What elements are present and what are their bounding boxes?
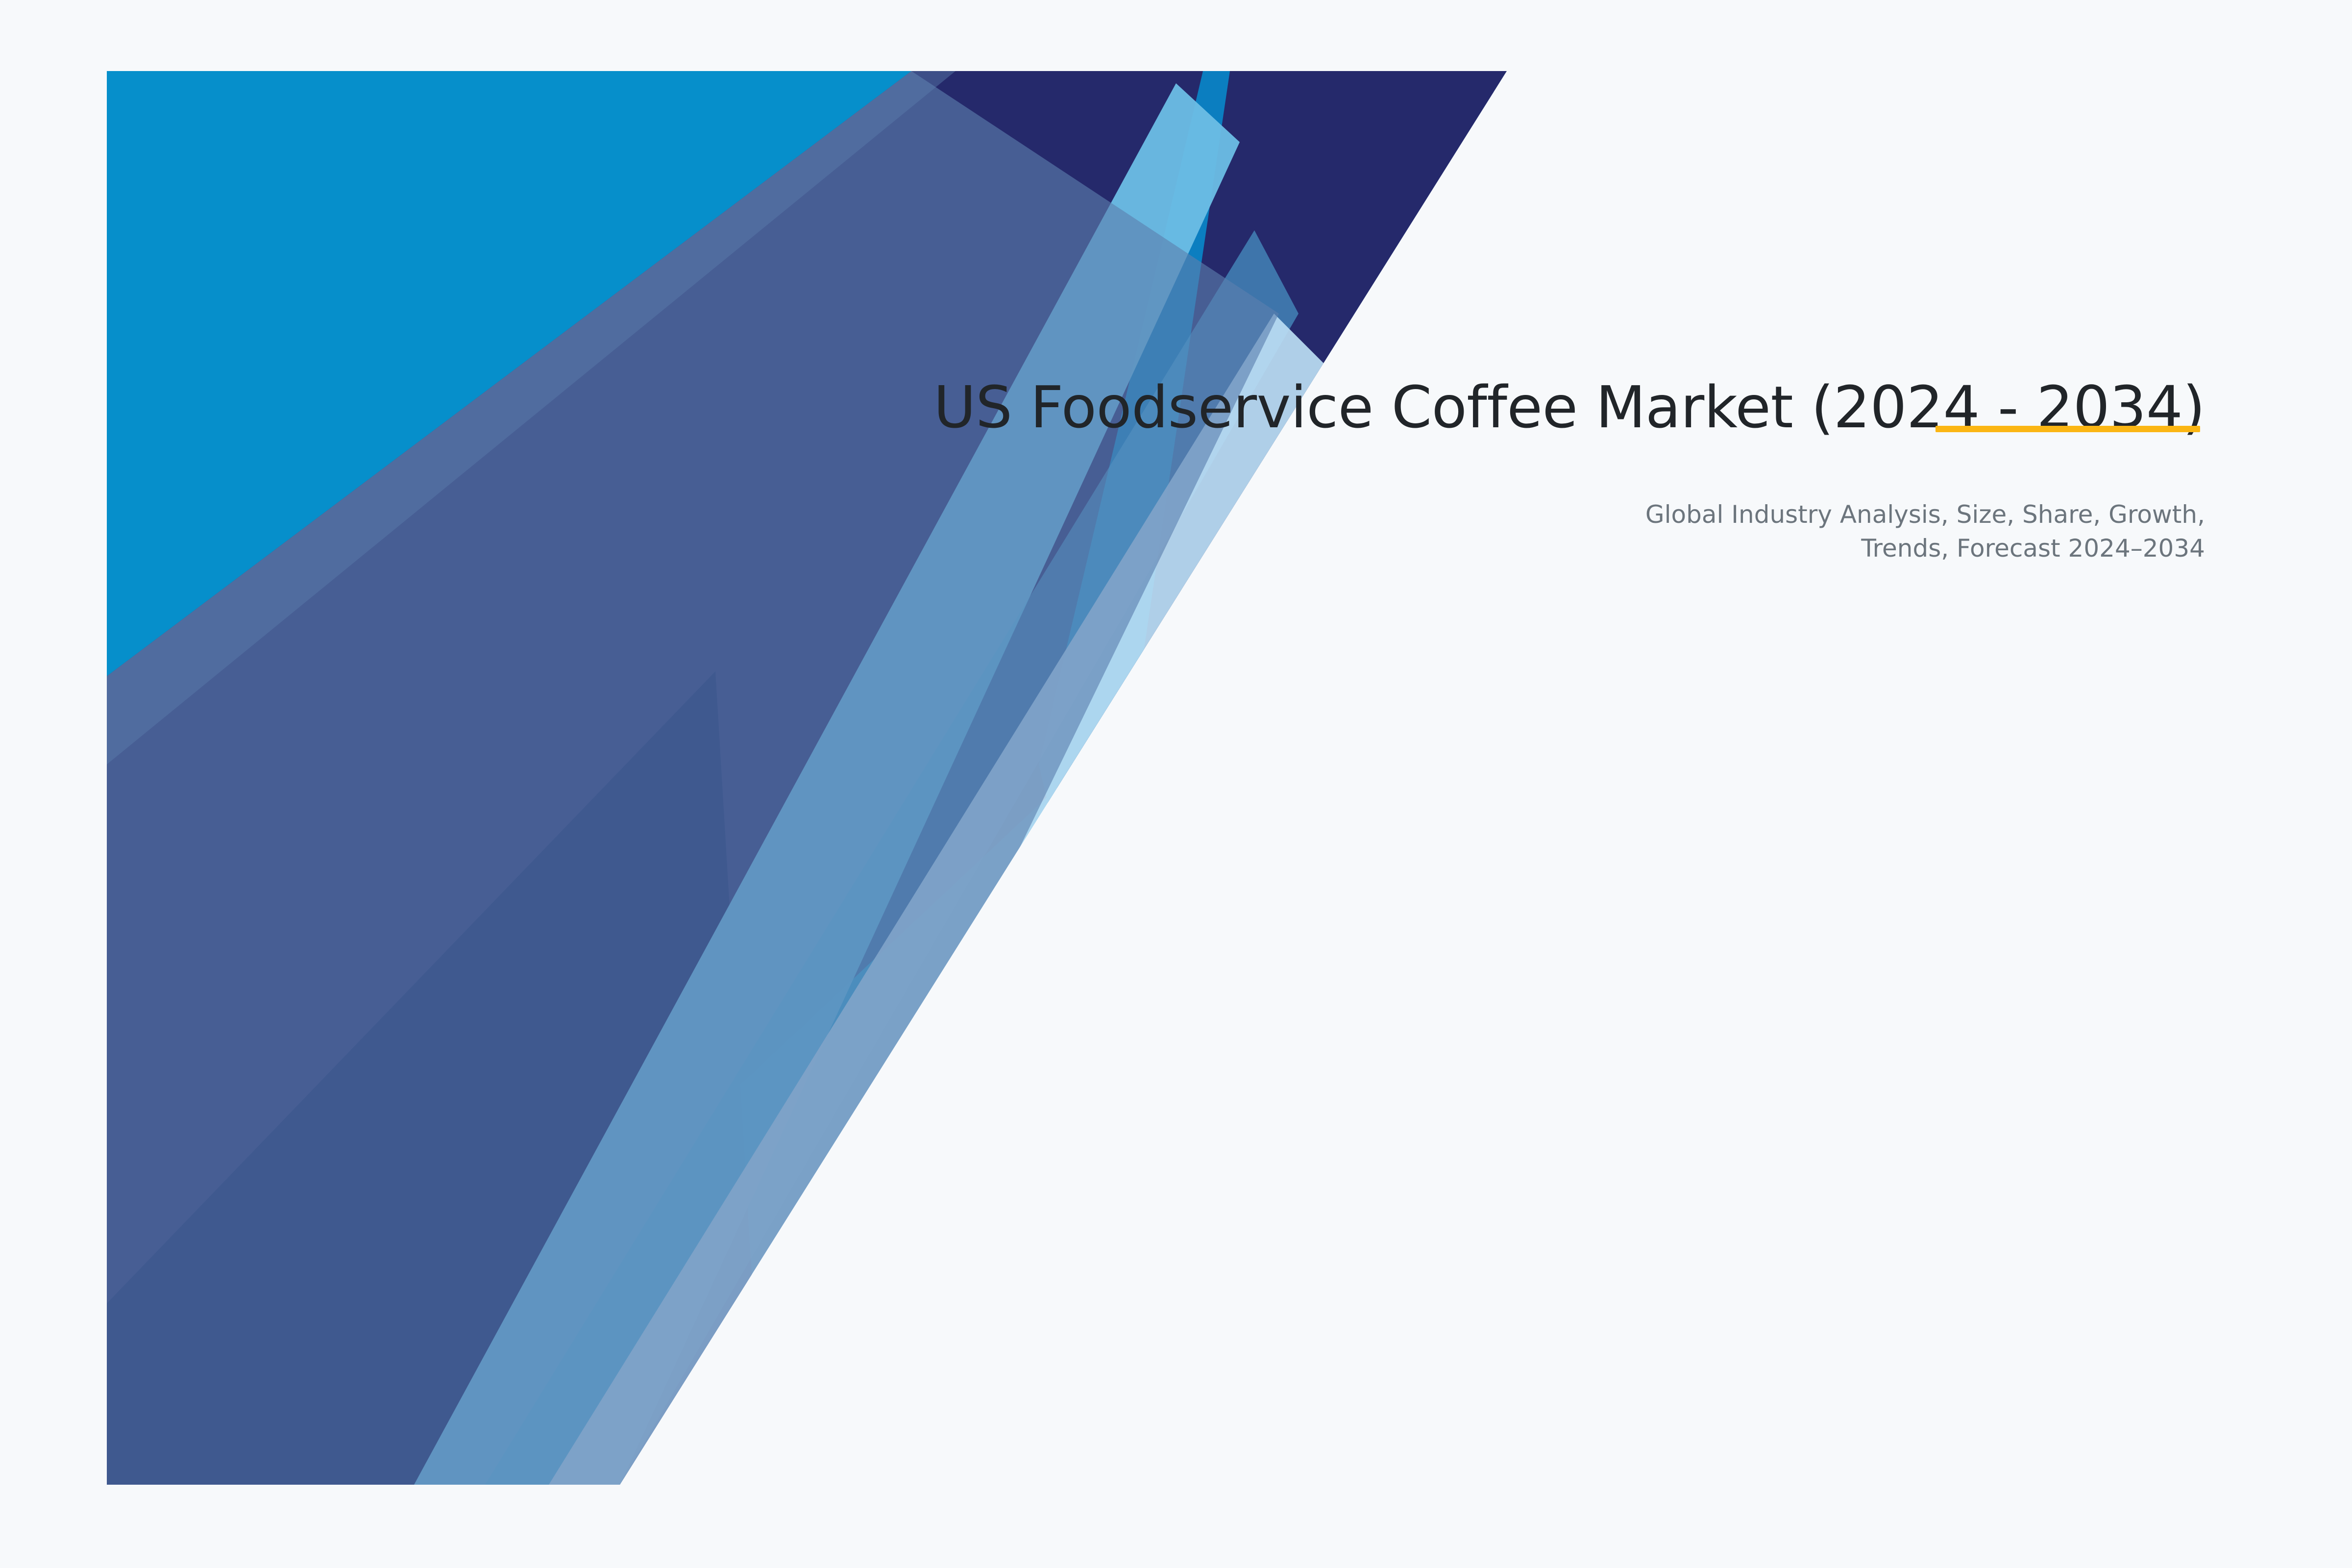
page-subtitle: Global Industry Analysis, Size, Share, G… [1568, 498, 2205, 565]
cover-text-block: US Foodservice Coffee Market (2024 - 203… [843, 372, 2205, 565]
page-title: US Foodservice Coffee Market (2024 - 203… [843, 372, 2205, 443]
title-wrap: US Foodservice Coffee Market (2024 - 203… [843, 372, 2205, 443]
shape-deep-navy-lower [107, 671, 764, 1485]
cover-slide: US Foodservice Coffee Market (2024 - 203… [0, 0, 2352, 1568]
shape-cyan-field [107, 71, 1507, 1485]
shape-sky-blue-band [414, 83, 1240, 1485]
shape-navy-wedge [107, 71, 1507, 1485]
shape-slate-upper-left [107, 71, 955, 764]
abstract-geometric-artwork [0, 0, 2352, 1568]
shape-slate-blue-overlay [107, 71, 1279, 1485]
title-underline-accent [1935, 426, 2200, 432]
